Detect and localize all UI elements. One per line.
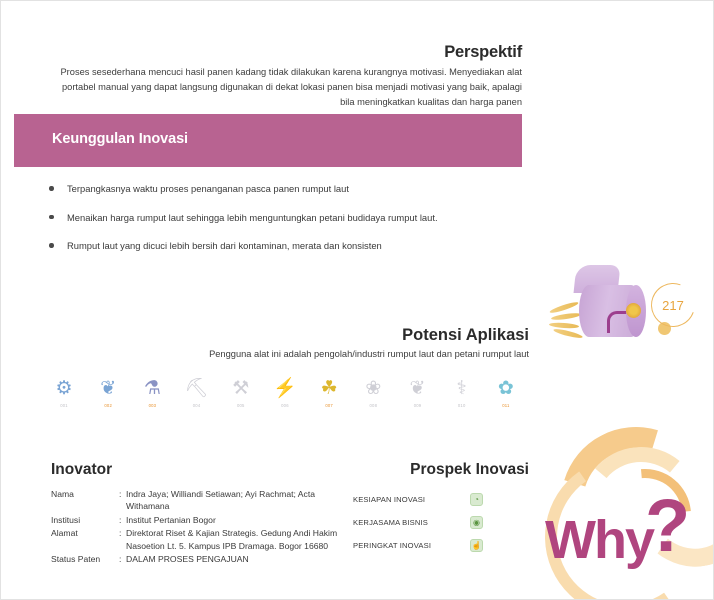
bullet-dot-icon — [49, 215, 54, 220]
list-item: Rumput laut yang dicuci lebih bersih dar… — [45, 239, 525, 252]
gauge-icon: ◔ — [470, 493, 483, 506]
factory-icon: ⚙ — [48, 374, 80, 402]
app-icon-code: 005 — [237, 403, 245, 408]
prospek-row-kesiapan: KESIAPAN INOVASI ◔ — [353, 488, 483, 511]
table-row: Status Paten : DALAM PROSES PENGAJUAN — [51, 553, 341, 566]
app-icon-005[interactable]: ⚒ 005 — [222, 374, 260, 416]
bullet-dot-icon — [49, 186, 54, 191]
handshake-icon: ◉ — [470, 516, 483, 529]
inovator-label: Status Paten — [51, 553, 119, 566]
banner-title: Keunggulan Inovasi — [52, 131, 188, 147]
inovator-separator: : — [119, 488, 126, 514]
app-icon-010[interactable]: ⚕ 010 — [443, 374, 481, 416]
inovator-label: Alamat — [51, 527, 119, 553]
app-icon-code: 009 — [414, 403, 422, 408]
inovator-value: Institut Pertanian Bogor — [126, 514, 341, 527]
inovator-separator: : — [119, 527, 126, 553]
seaweed-icon: ❦ — [92, 374, 124, 402]
app-icon-007[interactable]: ☘ 007 — [310, 374, 348, 416]
inovator-value: DALAM PROSES PENGAJUAN — [126, 553, 341, 566]
app-icon-code: 001 — [60, 403, 68, 408]
inovator-label: Institusi — [51, 514, 119, 527]
app-icon-code: 003 — [149, 403, 157, 408]
prospek-label: KESIAPAN INOVASI — [353, 495, 425, 504]
app-icon-code: 010 — [458, 403, 466, 408]
list-item: Terpangkasnya waktu proses penanganan pa… — [45, 182, 525, 195]
construction-icon: ⚒ — [225, 374, 257, 402]
bullet-dot-icon — [49, 243, 54, 248]
application-icon-strip: ⚙ 001 ❦ 002 ⚗ 003 ⛏ 004 ⚒ 005 ⚡ 006 ☘ 00… — [45, 374, 525, 416]
perspektif-body: Proses sesederhana mencuci hasil panen k… — [53, 65, 522, 111]
app-icon-code: 011 — [502, 403, 509, 408]
poster-page: Perspektif Proses sesederhana mencuci ha… — [0, 0, 714, 600]
app-icon-004[interactable]: ⛏ 004 — [178, 374, 216, 416]
marine-icon: ❀ — [357, 374, 389, 402]
why-logo: Why ? — [537, 417, 714, 600]
list-item-text: Menaikan harga rumput laut sehingga lebi… — [67, 212, 438, 223]
app-icon-002[interactable]: ❦ 002 — [89, 374, 127, 416]
inovator-value: Indra Jaya; Williandi Setiawan; Ayi Rach… — [126, 488, 341, 514]
inovator-title: Inovator — [51, 461, 112, 479]
app-icon-code: 007 — [325, 403, 333, 408]
app-icon-011[interactable]: ✿ 011 — [487, 374, 525, 416]
app-icon-003[interactable]: ⚗ 003 — [133, 374, 171, 416]
app-icon-code: 004 — [193, 403, 201, 408]
app-icon-006[interactable]: ⚡ 006 — [266, 374, 304, 416]
perspektif-title: Perspektif — [1, 43, 522, 62]
inovator-separator: : — [119, 514, 126, 527]
table-row: Institusi : Institut Pertanian Bogor — [51, 514, 341, 527]
prospek-row-kerjasama: KERJASAMA BISNIS ◉ — [353, 511, 483, 534]
inovator-separator: : — [119, 553, 126, 566]
machine-hub-icon — [626, 303, 641, 318]
prospek-inovasi-list: KESIAPAN INOVASI ◔ KERJASAMA BISNIS ◉ PE… — [353, 488, 483, 557]
page-number: 217 — [651, 283, 695, 327]
keunggulan-list: Terpangkasnya waktu proses penanganan pa… — [45, 182, 525, 268]
list-item: Menaikan harga rumput laut sehingga lebi… — [45, 211, 525, 224]
roller-machine-illustration — [549, 263, 659, 341]
prospek-row-peringkat: PERINGKAT INOVASI ☝ — [353, 534, 483, 557]
inovator-label: Nama — [51, 488, 119, 514]
app-icon-code: 002 — [104, 403, 112, 408]
prospek-label: PERINGKAT INOVASI — [353, 541, 431, 550]
table-row: Alamat : Direktorat Riset & Kajian Strat… — [51, 527, 341, 553]
inovator-value: Direktorat Riset & Kajian Strategis. Ged… — [126, 527, 341, 553]
why-logo-question-mark: ? — [645, 489, 690, 563]
machine-drum — [579, 285, 641, 337]
thumbsup-icon: ☝ — [470, 539, 483, 552]
keunggulan-inovasi-banner: Keunggulan Inovasi — [14, 114, 522, 167]
app-icon-001[interactable]: ⚙ 001 — [45, 374, 83, 416]
potensi-aplikasi-subtitle: Pengguna alat ini adalah pengolah/indust… — [101, 349, 529, 359]
prospek-label: KERJASAMA BISNIS — [353, 518, 428, 527]
page-number-badge: 217 — [651, 283, 695, 327]
list-item-text: Terpangkasnya waktu proses penanganan pa… — [67, 183, 349, 194]
machinery-icon: ⛏ — [181, 374, 213, 402]
prospek-inovasi-title: Prospek Inovasi — [331, 461, 529, 479]
why-logo-word: Why — [545, 513, 653, 567]
app-icon-code: 006 — [281, 403, 289, 408]
laboratory-icon: ⚗ — [136, 374, 168, 402]
livestock-icon: ❦ — [402, 374, 434, 402]
app-icon-code: 008 — [370, 403, 378, 408]
energy-icon: ⚡ — [269, 374, 301, 402]
table-row: Nama : Indra Jaya; Williandi Setiawan; A… — [51, 488, 341, 514]
list-item-text: Rumput laut yang dicuci lebih bersih dar… — [67, 240, 382, 251]
inovator-table: Nama : Indra Jaya; Williandi Setiawan; A… — [51, 488, 341, 566]
app-icon-009[interactable]: ❦ 009 — [399, 374, 437, 416]
community-icon: ✿ — [490, 374, 522, 402]
app-icon-008[interactable]: ❀ 008 — [354, 374, 392, 416]
health-icon: ⚕ — [446, 374, 478, 402]
agriculture-icon: ☘ — [313, 374, 345, 402]
potensi-aplikasi-title: Potensi Aplikasi — [1, 326, 529, 345]
